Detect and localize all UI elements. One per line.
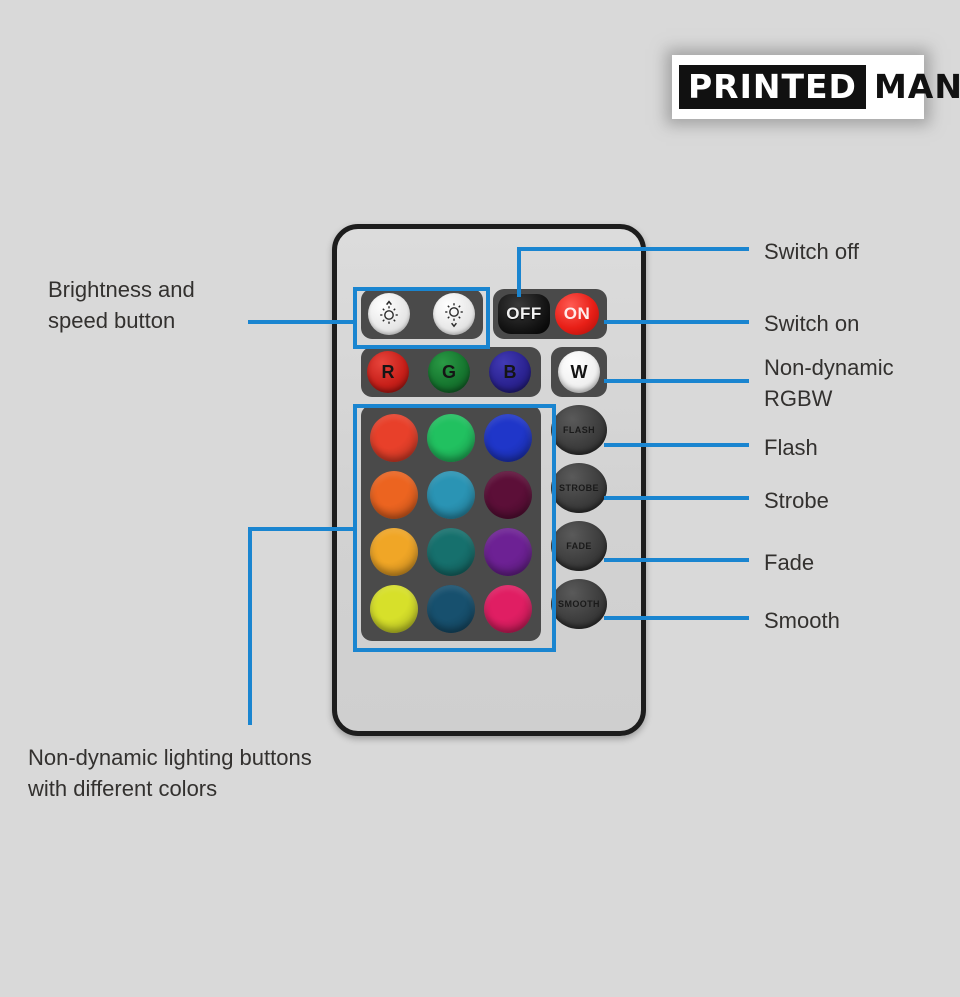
rgb-button-green[interactable]: G (428, 351, 470, 393)
highlight-brightness-speed (353, 287, 490, 349)
mode-button-fade[interactable]: FADE (551, 521, 607, 571)
mode-button-flash[interactable]: FLASH (551, 405, 607, 455)
label-switch-off: Switch off (764, 236, 859, 267)
label-strobe: Strobe (764, 485, 829, 516)
callout-line-smooth (604, 616, 749, 620)
callout-line-colors-vertical (248, 527, 252, 725)
power-pad: OFF ON (493, 289, 607, 339)
mode-button-strobe[interactable]: STROBE (551, 463, 607, 513)
mode-button-smooth[interactable]: SMOOTH (551, 579, 607, 629)
callout-line-strobe (604, 496, 749, 500)
label-non-dynamic-rgbw: Non-dynamic RGBW (764, 352, 954, 414)
callout-line-fade (604, 558, 749, 562)
printed-man-logo: PRINTED MAN (672, 55, 924, 119)
callout-line-flash (604, 443, 749, 447)
rgb-button-white[interactable]: W (558, 351, 600, 393)
label-switch-on: Switch on (764, 308, 859, 339)
rgb-pad: R G B (361, 347, 541, 397)
power-on-button[interactable]: ON (555, 293, 599, 335)
callout-line-switch-off-horizontal (517, 247, 749, 251)
label-fade: Fade (764, 547, 814, 578)
callout-line-rgbw (604, 379, 749, 383)
label-non-dynamic-colors: Non-dynamic lighting buttons with differ… (28, 742, 448, 804)
diagram-canvas: PRINTED MAN (0, 0, 960, 997)
callout-line-switch-on (604, 320, 749, 324)
callout-line-switch-off-vertical (517, 247, 521, 297)
power-off-button[interactable]: OFF (498, 294, 550, 334)
logo-inner: PRINTED MAN (679, 65, 960, 109)
label-brightness-speed: Brightness and speed button (48, 274, 278, 336)
rgb-button-red[interactable]: R (367, 351, 409, 393)
rgb-button-blue[interactable]: B (489, 351, 531, 393)
label-flash: Flash (764, 432, 818, 463)
logo-text-man: MAN (866, 65, 960, 109)
callout-line-colors-horizontal (248, 527, 356, 531)
highlight-color-grid (353, 404, 556, 652)
label-smooth: Smooth (764, 605, 840, 636)
white-pad: W (551, 347, 607, 397)
logo-text-printed: PRINTED (679, 65, 866, 109)
